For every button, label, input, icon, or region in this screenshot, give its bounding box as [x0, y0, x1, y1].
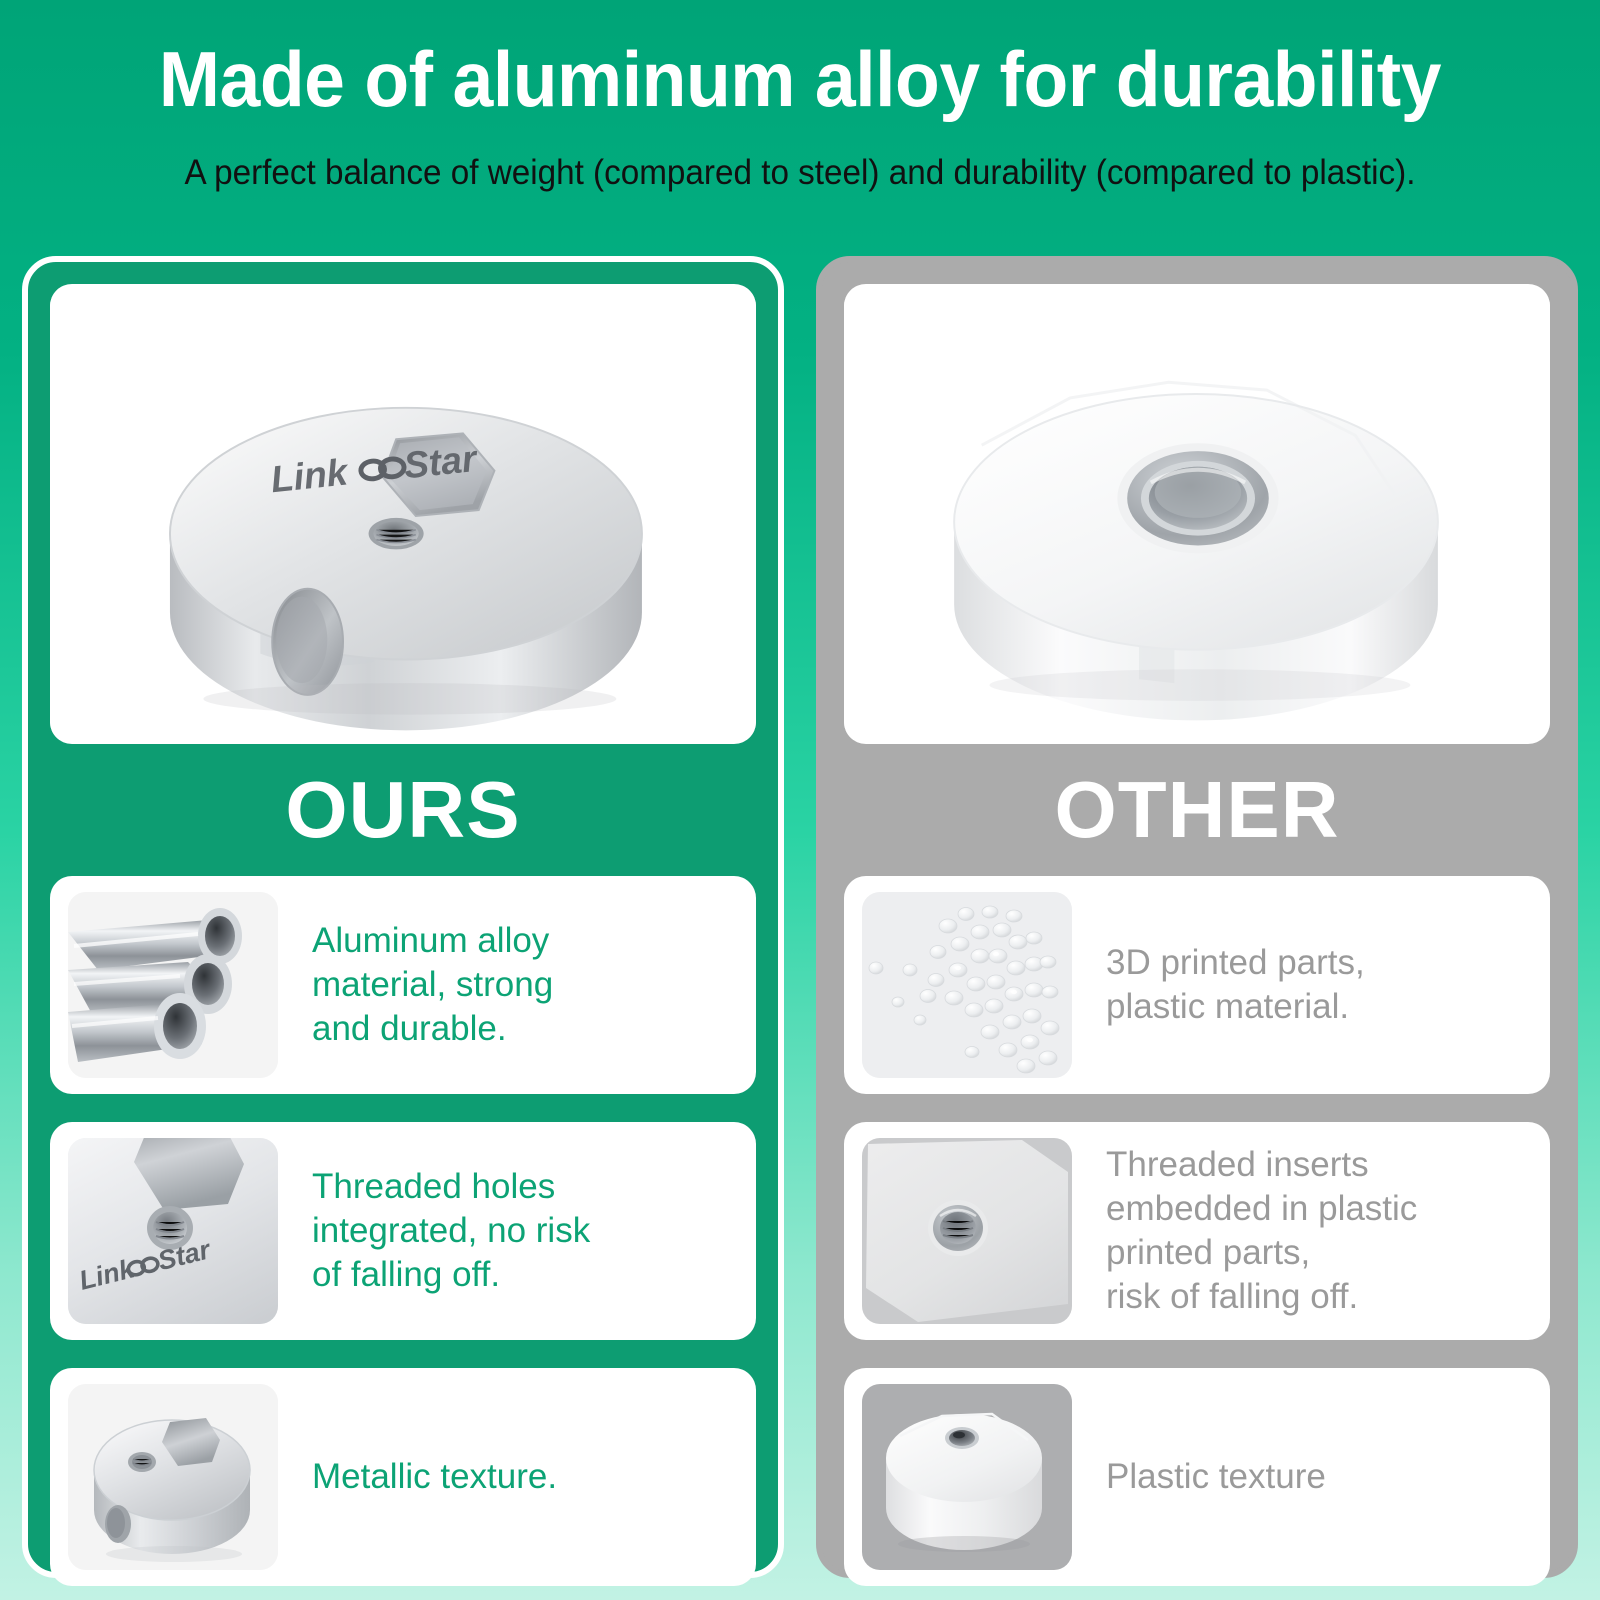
feature-row: Plastic texture: [844, 1368, 1550, 1586]
aluminum-mount-angle-photo: [68, 1384, 278, 1570]
feature-row: Threaded inserts embedded in plastic pri…: [844, 1122, 1550, 1340]
plastic-mount-angle-photo: [862, 1384, 1072, 1570]
threaded-hole-closeup-photo: Link Star: [68, 1138, 278, 1324]
feature-text: Threaded holes integrated, no risk of fa…: [278, 1165, 756, 1297]
header: Made of aluminum alloy for durability A …: [0, 0, 1600, 236]
svg-text:Link: Link: [269, 450, 352, 500]
feature-text: 3D printed parts, plastic material.: [1072, 941, 1550, 1029]
steel-tubes-photo: [68, 892, 278, 1078]
feature-text: Plastic texture: [1072, 1455, 1550, 1499]
hero-image-ours: Link Star: [50, 284, 756, 744]
plastic-pellets-photo: [862, 892, 1072, 1078]
feature-list-other: 3D printed parts, plastic material.: [844, 876, 1550, 1554]
page-subtitle: A perfect balance of weight (compared to…: [40, 152, 1560, 194]
panel-ours: Link Star OURS: [22, 256, 784, 1578]
plastic-mount-angle-icon: [862, 1384, 1072, 1570]
page-title: Made of aluminum alloy for durability: [48, 36, 1552, 122]
feature-text: Threaded inserts embedded in plastic pri…: [1072, 1143, 1550, 1319]
panel-other: OTHER: [816, 256, 1578, 1578]
threaded-insert-icon: [862, 1138, 1072, 1324]
threaded-hole-icon: Link Star: [68, 1138, 278, 1324]
feature-row: Metallic texture.: [50, 1368, 756, 1586]
feature-list-ours: Aluminum alloy material, strong and dura…: [50, 876, 756, 1554]
feature-row: Link Star Threaded holes integrated, no …: [50, 1122, 756, 1340]
aluminum-mount-angle-icon: [68, 1384, 278, 1570]
feature-row: 3D printed parts, plastic material.: [844, 876, 1550, 1094]
steel-tubes-icon: [68, 892, 278, 1078]
feature-text: Aluminum alloy material, strong and dura…: [278, 919, 756, 1051]
infographic-page: Made of aluminum alloy for durability A …: [0, 0, 1600, 1600]
aluminum-mount-photo: Link Star: [50, 284, 756, 744]
plastic-mount-photo: [844, 284, 1550, 744]
threaded-insert-closeup-photo: [862, 1138, 1072, 1324]
svg-text:Star: Star: [402, 437, 481, 487]
panel-label-other: OTHER: [822, 762, 1572, 858]
plastic-pellets-icon: [862, 892, 1072, 1078]
hero-image-other: [844, 284, 1550, 744]
panel-label-ours: OURS: [28, 762, 778, 858]
feature-text: Metallic texture.: [278, 1455, 756, 1499]
feature-row: Aluminum alloy material, strong and dura…: [50, 876, 756, 1094]
